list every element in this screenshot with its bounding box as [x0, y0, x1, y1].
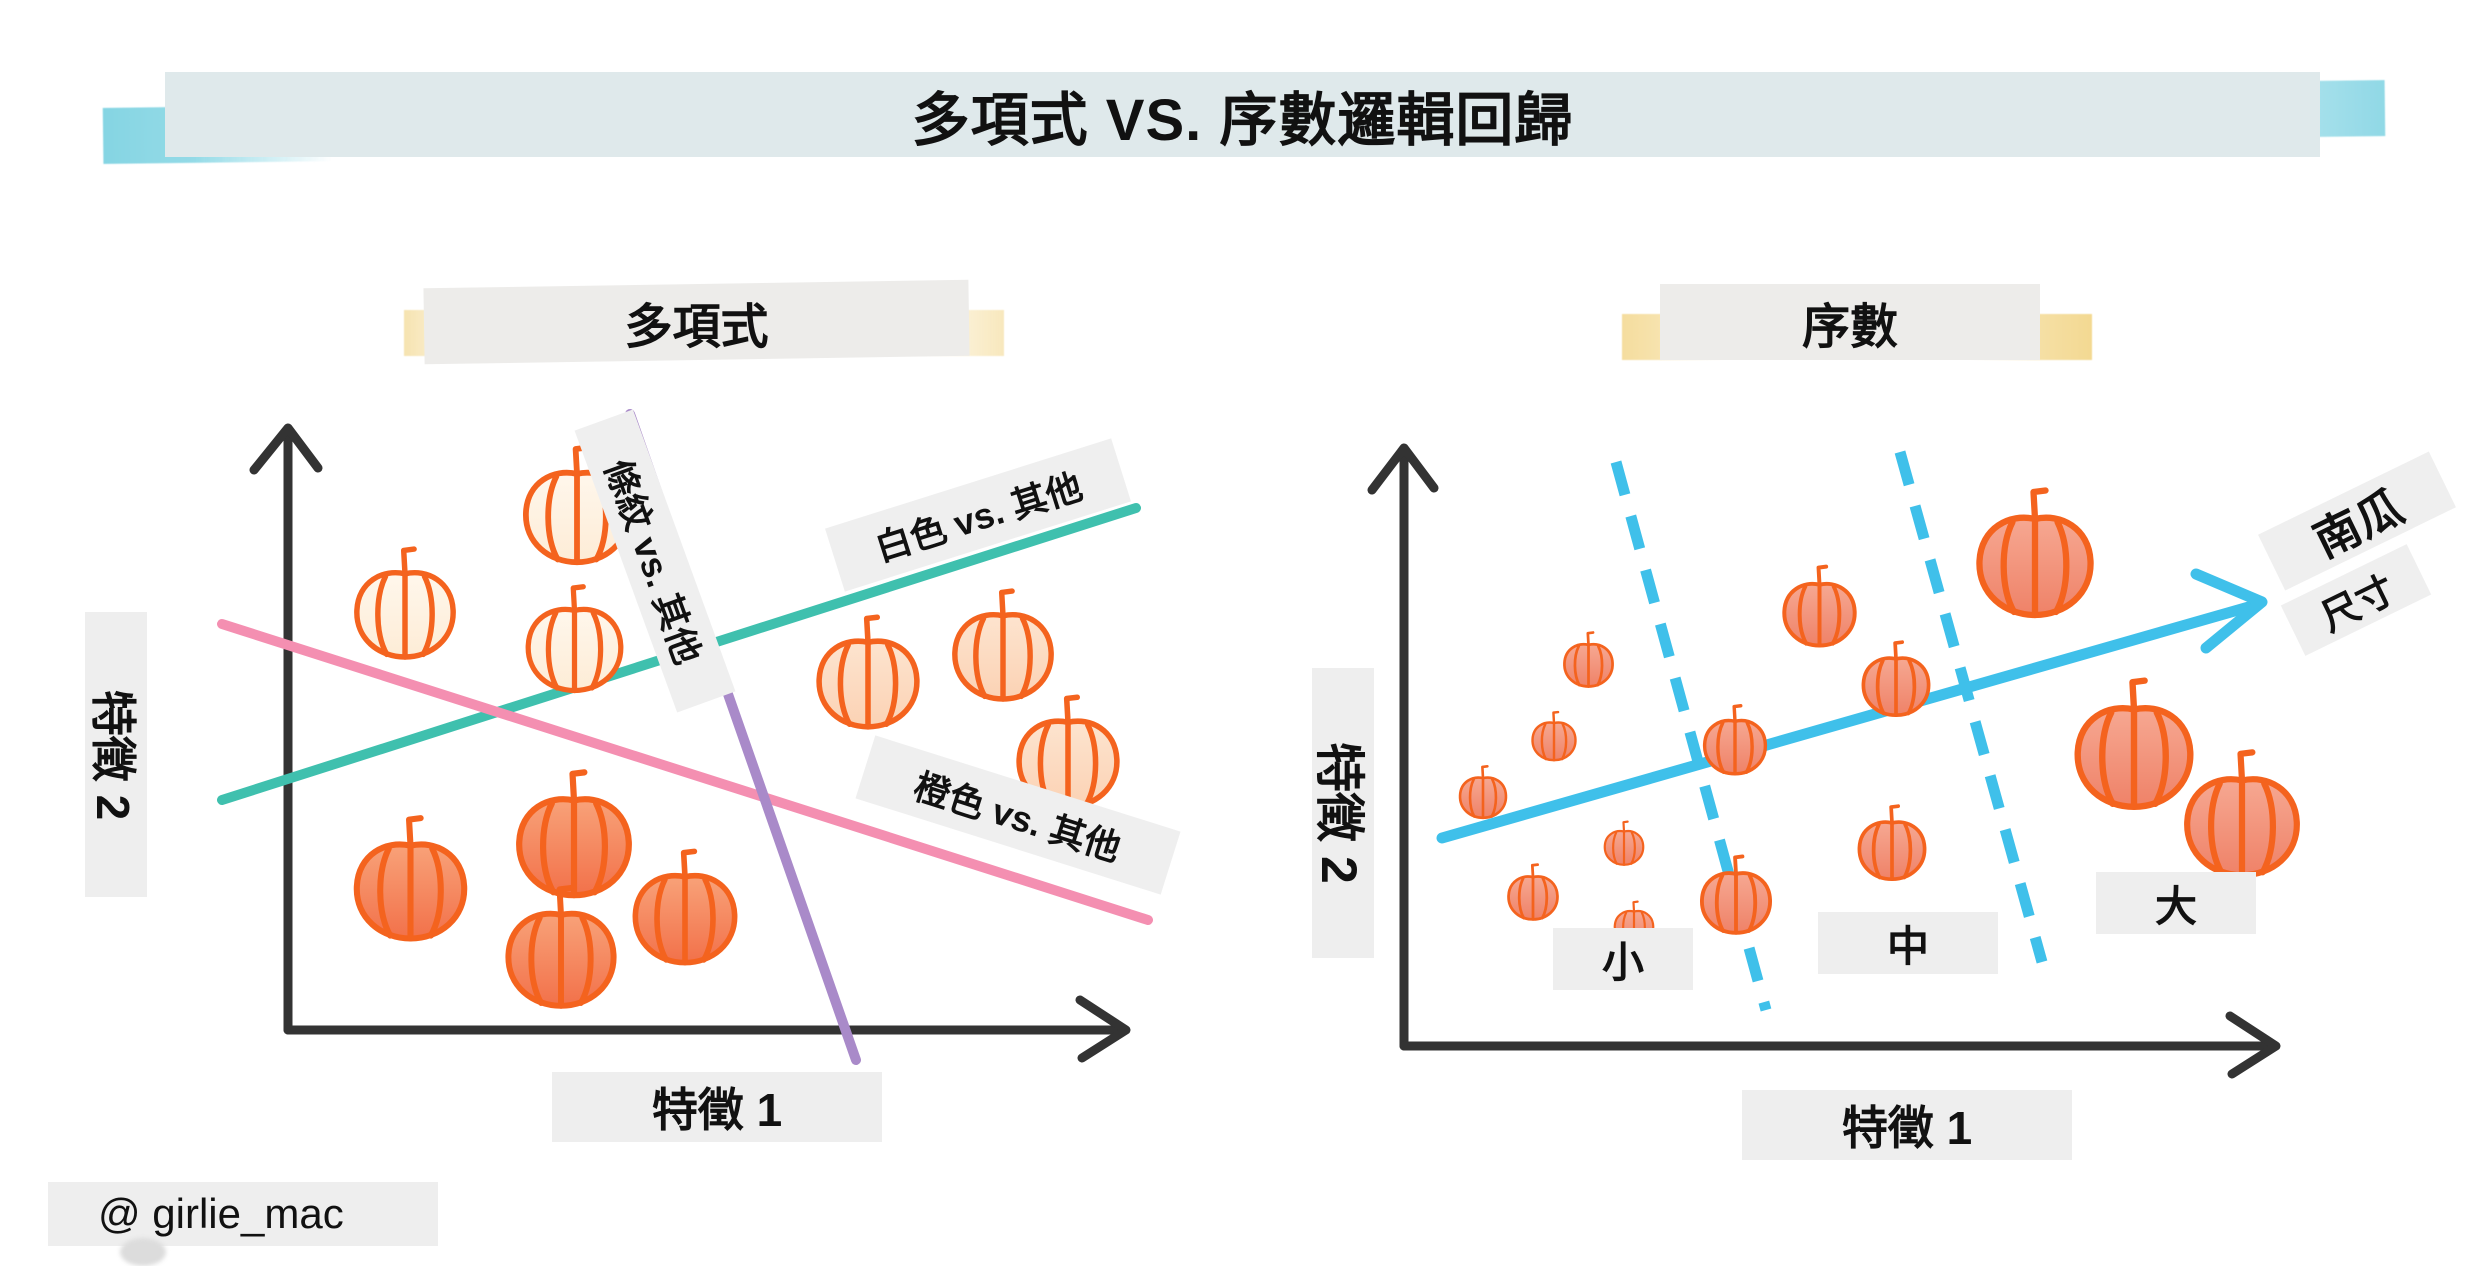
y-axis-label-right-text: 特徵 2	[1307, 742, 1379, 884]
x-axis-label-right: 特徵 1	[1742, 1090, 2072, 1160]
y-axis-label-right: 特徵 2	[1312, 668, 1374, 958]
x-axis-label-left: 特徵 1	[552, 1072, 882, 1142]
pumpkin-group-large	[1979, 491, 2296, 876]
pumpkin-group-orange	[357, 772, 735, 1005]
size-bin-small: 小	[1553, 928, 1693, 990]
size-bin-medium: 中	[1818, 912, 1998, 974]
pumpkin-group-white	[357, 448, 628, 691]
size-bin-large: 大	[2096, 872, 2256, 934]
pumpkin-group-medium	[1702, 567, 1929, 933]
y-axis-label-left: 特徵 2	[85, 612, 147, 897]
y-axis-label-left-text: 特徵 2	[83, 689, 149, 819]
left-chart-graphics	[0, 0, 2481, 1262]
infographic-canvas: 多項式 VS. 序數邏輯回歸 多項式 序數	[0, 0, 2481, 1262]
author-handle: @ girlie_mac	[48, 1182, 438, 1246]
